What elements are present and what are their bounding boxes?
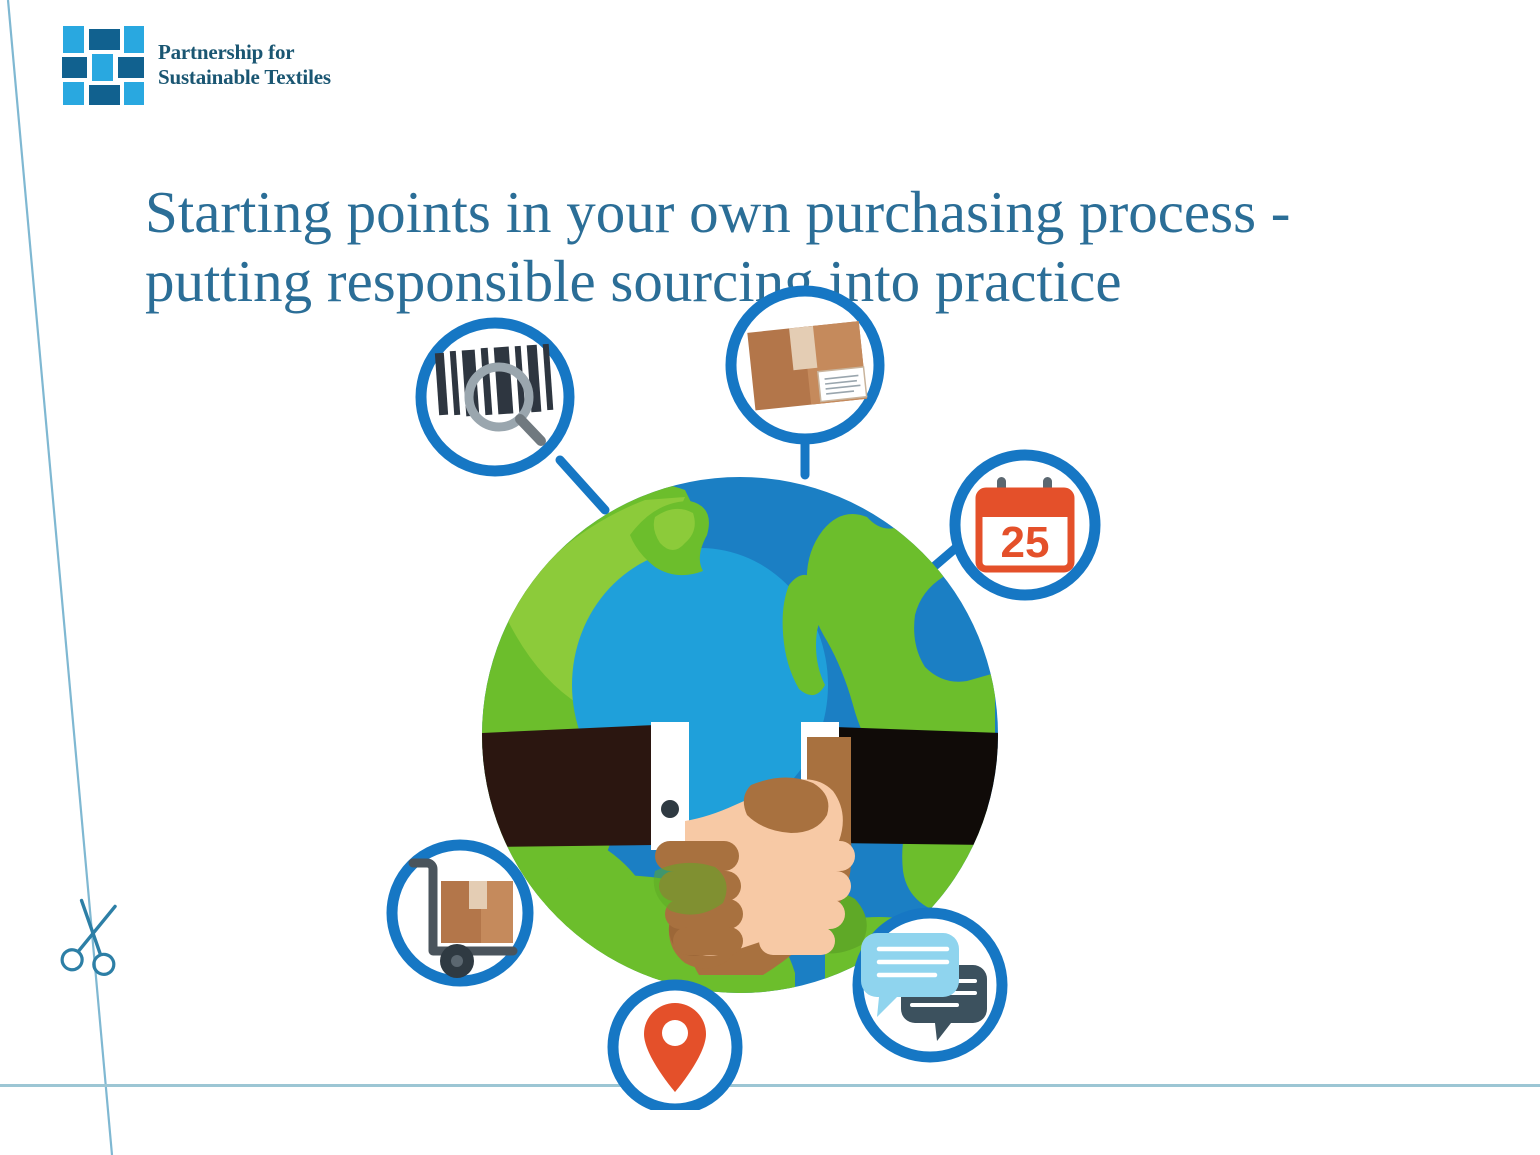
cut-line-decoration (0, 0, 200, 1155)
node-package[interactable] (731, 291, 879, 439)
logo-text-line1: Partnership for (158, 40, 294, 64)
node-barcode-scan[interactable] (421, 323, 569, 471)
logo-text: Partnership for Sustainable Textiles (158, 40, 331, 90)
calendar-icon: 25 (978, 477, 1072, 569)
node-calendar[interactable]: 25 (955, 455, 1095, 595)
logo: Partnership for Sustainable Textiles (62, 25, 331, 105)
node-hand-truck[interactable] (392, 845, 528, 981)
slide: Partnership for Sustainable Textiles Sta… (0, 0, 1540, 1155)
global-sourcing-graphic: 25 (355, 285, 1115, 1110)
logo-mark-icon (62, 25, 144, 105)
node-chat[interactable] (858, 913, 1002, 1057)
package-box-icon (747, 321, 867, 410)
calendar-day-number: 25 (1001, 518, 1050, 567)
logo-text-line2: Sustainable Textiles (158, 65, 331, 90)
page-title-line1: Starting points in your own purchasing p… (145, 178, 1435, 248)
node-location[interactable] (613, 985, 737, 1109)
scissors-icon (61, 899, 124, 977)
